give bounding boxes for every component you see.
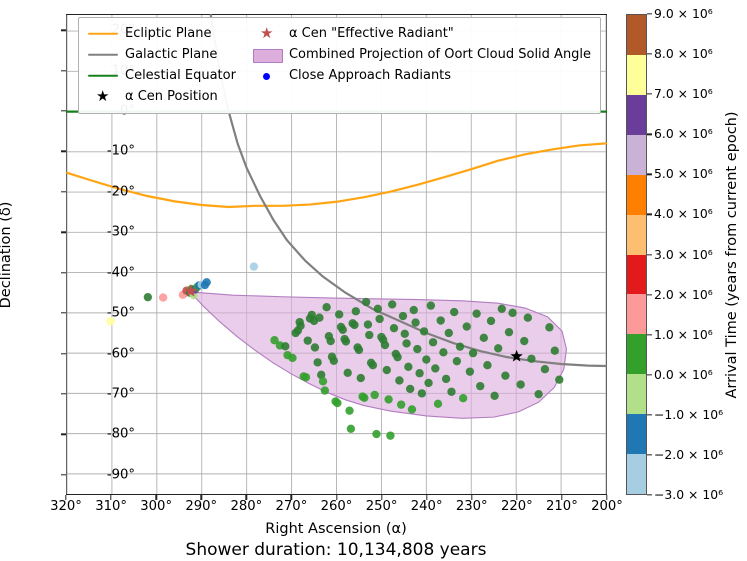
colorbar-tick-label: 6.0 × 10⁶ [654, 128, 713, 140]
colorbar-band [627, 215, 646, 255]
legend-item-galactic-plane: Galactic Plane [88, 45, 236, 64]
y-tick-label: -40° [107, 266, 135, 279]
colorbar-tick-mark [647, 494, 652, 495]
y-tick-mark [61, 232, 66, 233]
colorbar-tick-mark [647, 214, 652, 215]
y-tick-mark [61, 312, 66, 313]
x-tick-label: 250° [366, 500, 398, 513]
legend-item-cen-position: ★α Cen Position [88, 87, 236, 106]
colorbar-tick-label: 3.0 × 10⁶ [654, 248, 713, 260]
x-tick-label: 320° [50, 500, 82, 513]
colorbar-band [627, 294, 646, 334]
colorbar-tick-label: −1.0 × 10⁶ [654, 409, 723, 421]
colorbar-band [627, 454, 646, 494]
colorbar-tick-label: 4.0 × 10⁶ [654, 208, 713, 220]
x-tick-mark [606, 495, 607, 500]
x-tick-mark [246, 495, 247, 500]
legend-line-key [88, 69, 118, 83]
x-tick-mark [155, 495, 156, 500]
colorbar-tick-label: 1.0 × 10⁶ [654, 328, 713, 340]
legend-item-label: α Cen Position [125, 89, 218, 104]
y-tick-mark [61, 191, 66, 192]
legend-line-key [88, 27, 118, 41]
x-tick-mark [561, 495, 562, 500]
legend-line-swatch [88, 74, 118, 76]
colorbar-band [627, 334, 646, 374]
legend: Ecliptic PlaneGalactic PlaneCelestial Eq… [78, 17, 601, 114]
legend-item-label: Combined Projection of Oort Cloud Solid … [289, 47, 591, 62]
x-tick-mark [516, 495, 517, 500]
x-tick-mark [65, 495, 66, 500]
colorbar-tick-label: −3.0 × 10⁶ [654, 489, 723, 501]
colorbar-tick-mark [647, 94, 652, 95]
x-tick-mark [336, 495, 337, 500]
x-tick-label: 300° [140, 500, 172, 513]
colorbar-tick-label: 9.0 × 10⁶ [654, 8, 713, 20]
star-icon: ★ [96, 89, 109, 104]
legend-line-swatch [88, 32, 118, 34]
colorbar-tick-mark [647, 13, 652, 14]
shower-duration-caption: Shower duration: 10,134,808 years [186, 540, 487, 560]
colorbar-tick-mark [647, 254, 652, 255]
colorbar-tick-mark [647, 334, 652, 335]
legend-item-celestial-equator: Celestial Equator [88, 66, 236, 85]
y-tick-label: -90° [107, 468, 135, 481]
legend-item-label: Ecliptic Plane [125, 26, 211, 41]
colorbar-tick-mark [647, 374, 652, 375]
y-tick-label: -30° [107, 226, 135, 239]
colorbar-tick-label: 0.0 × 10⁶ [654, 369, 713, 381]
colorbar-tick-label: 7.0 × 10⁶ [654, 88, 713, 100]
y-tick-mark [61, 434, 66, 435]
y-tick-label: -10° [107, 145, 135, 158]
colorbar-tick-label: 5.0 × 10⁶ [654, 168, 713, 180]
colorbar-tick-mark [647, 174, 652, 175]
colorbar-band [627, 15, 646, 55]
x-tick-label: 240° [411, 500, 443, 513]
legend-star-key: ★ [252, 27, 282, 41]
colorbar-band [627, 95, 646, 135]
colorbar-band [627, 255, 646, 295]
x-tick-label: 260° [321, 500, 353, 513]
legend-item-combined-projection-of-oort-cloud-solid-angle: Combined Projection of Oort Cloud Solid … [252, 45, 591, 64]
colorbar-tick-label: 2.0 × 10⁶ [654, 288, 713, 300]
legend-item-ecliptic-plane: Ecliptic Plane [88, 24, 236, 43]
legend-dot-key [252, 69, 282, 83]
legend-item-label: α Cen "Effective Radiant" [289, 26, 454, 41]
y-tick-mark [61, 70, 66, 71]
legend-item-label: Galactic Plane [125, 47, 217, 62]
legend-column-1: Ecliptic PlaneGalactic PlaneCelestial Eq… [88, 24, 236, 106]
legend-patch-swatch [253, 49, 283, 63]
colorbar-tick-mark [647, 53, 652, 54]
x-tick-label: 200° [591, 500, 623, 513]
colorbar [626, 14, 647, 495]
legend-patch-key [252, 48, 282, 62]
colorbar-tick-label: −2.0 × 10⁶ [654, 449, 723, 461]
colorbar-title: Arrival Time (years from current epoch) [724, 111, 740, 398]
legend-dot-swatch [263, 73, 270, 80]
legend-item-close-approach-radiants: Close Approach Radiants [252, 66, 591, 85]
colorbar-tick-mark [647, 134, 652, 135]
y-tick-mark [61, 393, 66, 394]
x-tick-mark [426, 495, 427, 500]
y-tick-label: -60° [107, 347, 135, 360]
legend-line-key [88, 48, 118, 62]
colorbar-tick-mark [647, 294, 652, 295]
y-tick-mark [61, 474, 66, 475]
colorbar-band [627, 55, 646, 95]
colorbar-tick-label: 8.0 × 10⁶ [654, 48, 713, 60]
x-tick-label: 280° [230, 500, 262, 513]
y-tick-mark [61, 272, 66, 273]
legend-line-swatch [88, 53, 118, 55]
x-tick-mark [201, 495, 202, 500]
x-tick-label: 230° [456, 500, 488, 513]
y-axis-label: Declination (δ) [0, 202, 14, 309]
x-tick-mark [471, 495, 472, 500]
figure-canvas: 20°10°0°-10°-20°-30°-40°-50°-60°-70°-80°… [0, 0, 747, 561]
y-tick-label: -20° [107, 185, 135, 198]
colorbar-band [627, 135, 646, 175]
star-icon: ★ [260, 26, 273, 41]
legend-star-key: ★ [88, 90, 118, 104]
y-tick-mark [61, 353, 66, 354]
legend-item-label: Celestial Equator [125, 68, 236, 83]
y-tick-label: -50° [107, 306, 135, 319]
y-tick-label: -80° [107, 428, 135, 441]
y-tick-mark [61, 110, 66, 111]
x-tick-mark [110, 495, 111, 500]
x-tick-label: 220° [501, 500, 533, 513]
x-tick-label: 270° [276, 500, 308, 513]
legend-item-label: Close Approach Radiants [289, 68, 451, 83]
colorbar-tick-mark [647, 414, 652, 415]
y-tick-mark [61, 29, 66, 30]
y-tick-label: -70° [107, 387, 135, 400]
colorbar-band [627, 175, 646, 215]
x-tick-mark [381, 495, 382, 500]
x-tick-label: 210° [546, 500, 578, 513]
colorbar-tick-mark [647, 454, 652, 455]
colorbar-band [627, 414, 646, 454]
x-tick-label: 310° [95, 500, 127, 513]
colorbar-band [627, 374, 646, 414]
legend-item-cen-effective-radiant: ★α Cen "Effective Radiant" [252, 24, 591, 43]
legend-column-2: ★α Cen "Effective Radiant"Combined Proje… [252, 24, 591, 106]
x-tick-mark [291, 495, 292, 500]
x-axis-label: Right Ascension (α) [265, 521, 406, 537]
y-tick-mark [61, 151, 66, 152]
x-tick-label: 290° [185, 500, 217, 513]
